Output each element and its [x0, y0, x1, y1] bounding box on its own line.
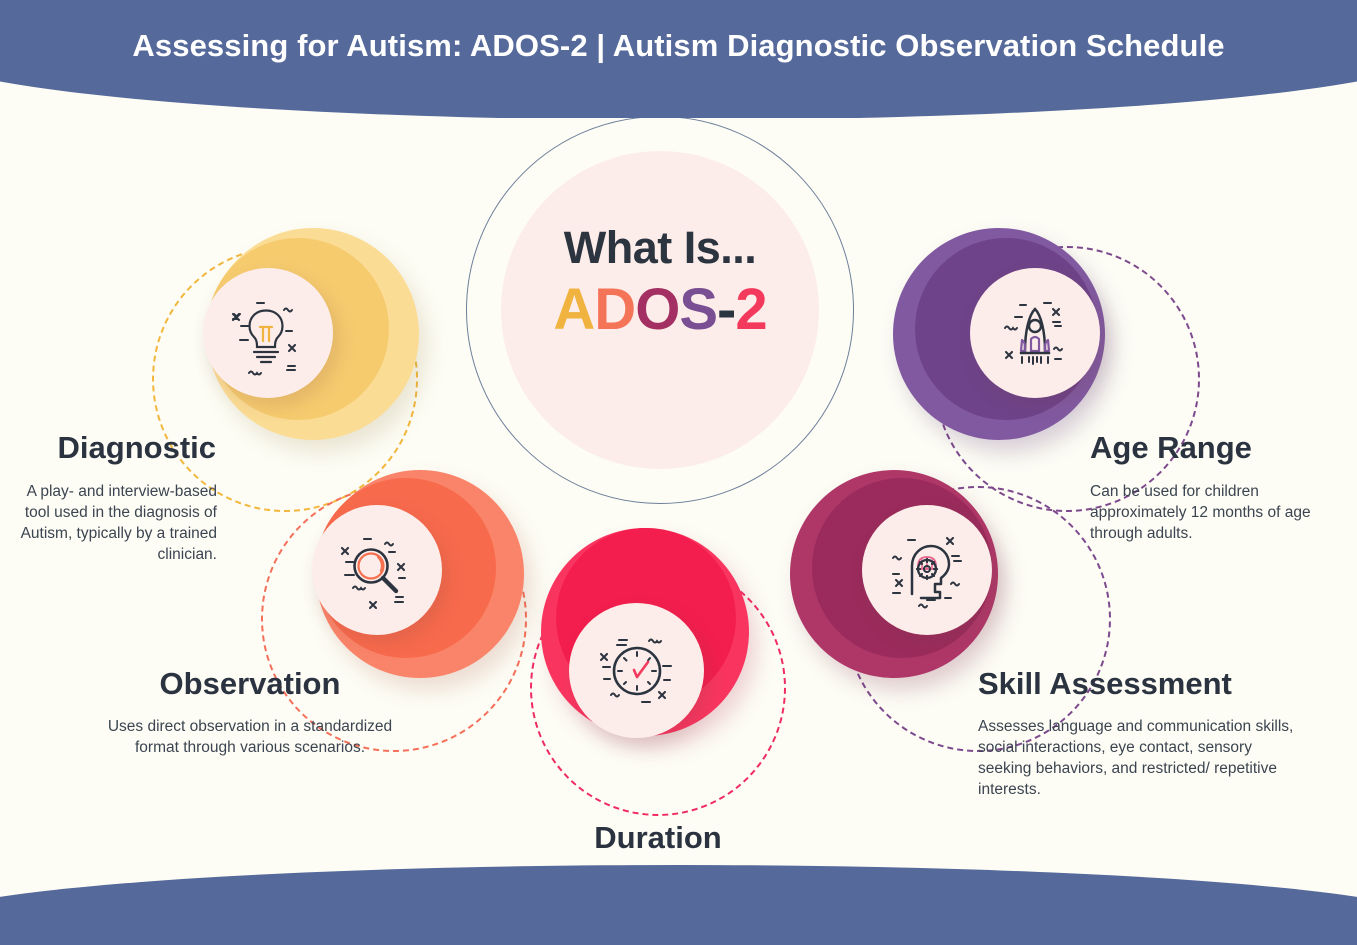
- label-title-diagnostic: Diagnostic: [0, 432, 216, 465]
- label-body-observation: Uses direct observation in a standardize…: [85, 716, 415, 758]
- acronym-letter-3: S: [679, 277, 717, 342]
- label-title-observation: Observation: [90, 668, 410, 701]
- icon-circle-age-range[interactable]: [970, 268, 1100, 398]
- label-title-duration: Duration: [498, 822, 818, 855]
- clock-icon: [592, 626, 682, 716]
- icon-circle-observation[interactable]: [312, 505, 442, 635]
- label-title-age-range: Age Range: [1090, 432, 1350, 465]
- hero-text: What Is... ADOS-2: [466, 225, 854, 342]
- page-title: Assessing for Autism: ADOS-2 | Autism Di…: [0, 28, 1357, 64]
- icon-circle-skill-assessment[interactable]: [862, 505, 992, 635]
- footer-band-fill: [0, 865, 1357, 945]
- acronym-letter-5: 2: [735, 277, 766, 342]
- icon-circle-duration[interactable]: [569, 603, 704, 738]
- rocket-icon: [991, 289, 1079, 377]
- hero-acronym: ADOS-2: [466, 279, 854, 342]
- label-body-diagnostic: A play- and interview-based tool used in…: [12, 481, 217, 565]
- head-brain-gear-icon: [883, 526, 971, 614]
- acronym-letter-0: A: [553, 277, 594, 342]
- acronym-letter-1: D: [594, 277, 635, 342]
- hero-question: What Is...: [466, 225, 854, 270]
- label-body-age-range: Can be used for children approximately 1…: [1090, 481, 1315, 544]
- infographic-canvas: Diagnostic A play- and interview-based t…: [0, 0, 1357, 945]
- icon-circle-diagnostic[interactable]: [203, 268, 333, 398]
- acronym-letter-2: O: [635, 277, 679, 342]
- label-title-skill-assessment: Skill Assessment: [978, 668, 1338, 701]
- magnifier-icon: [333, 526, 421, 614]
- acronym-letter-4: -: [717, 277, 735, 342]
- footer-band: [0, 865, 1357, 945]
- lightbulb-icon: [224, 289, 312, 377]
- label-body-skill-assessment: Assesses language and communication skil…: [978, 716, 1308, 800]
